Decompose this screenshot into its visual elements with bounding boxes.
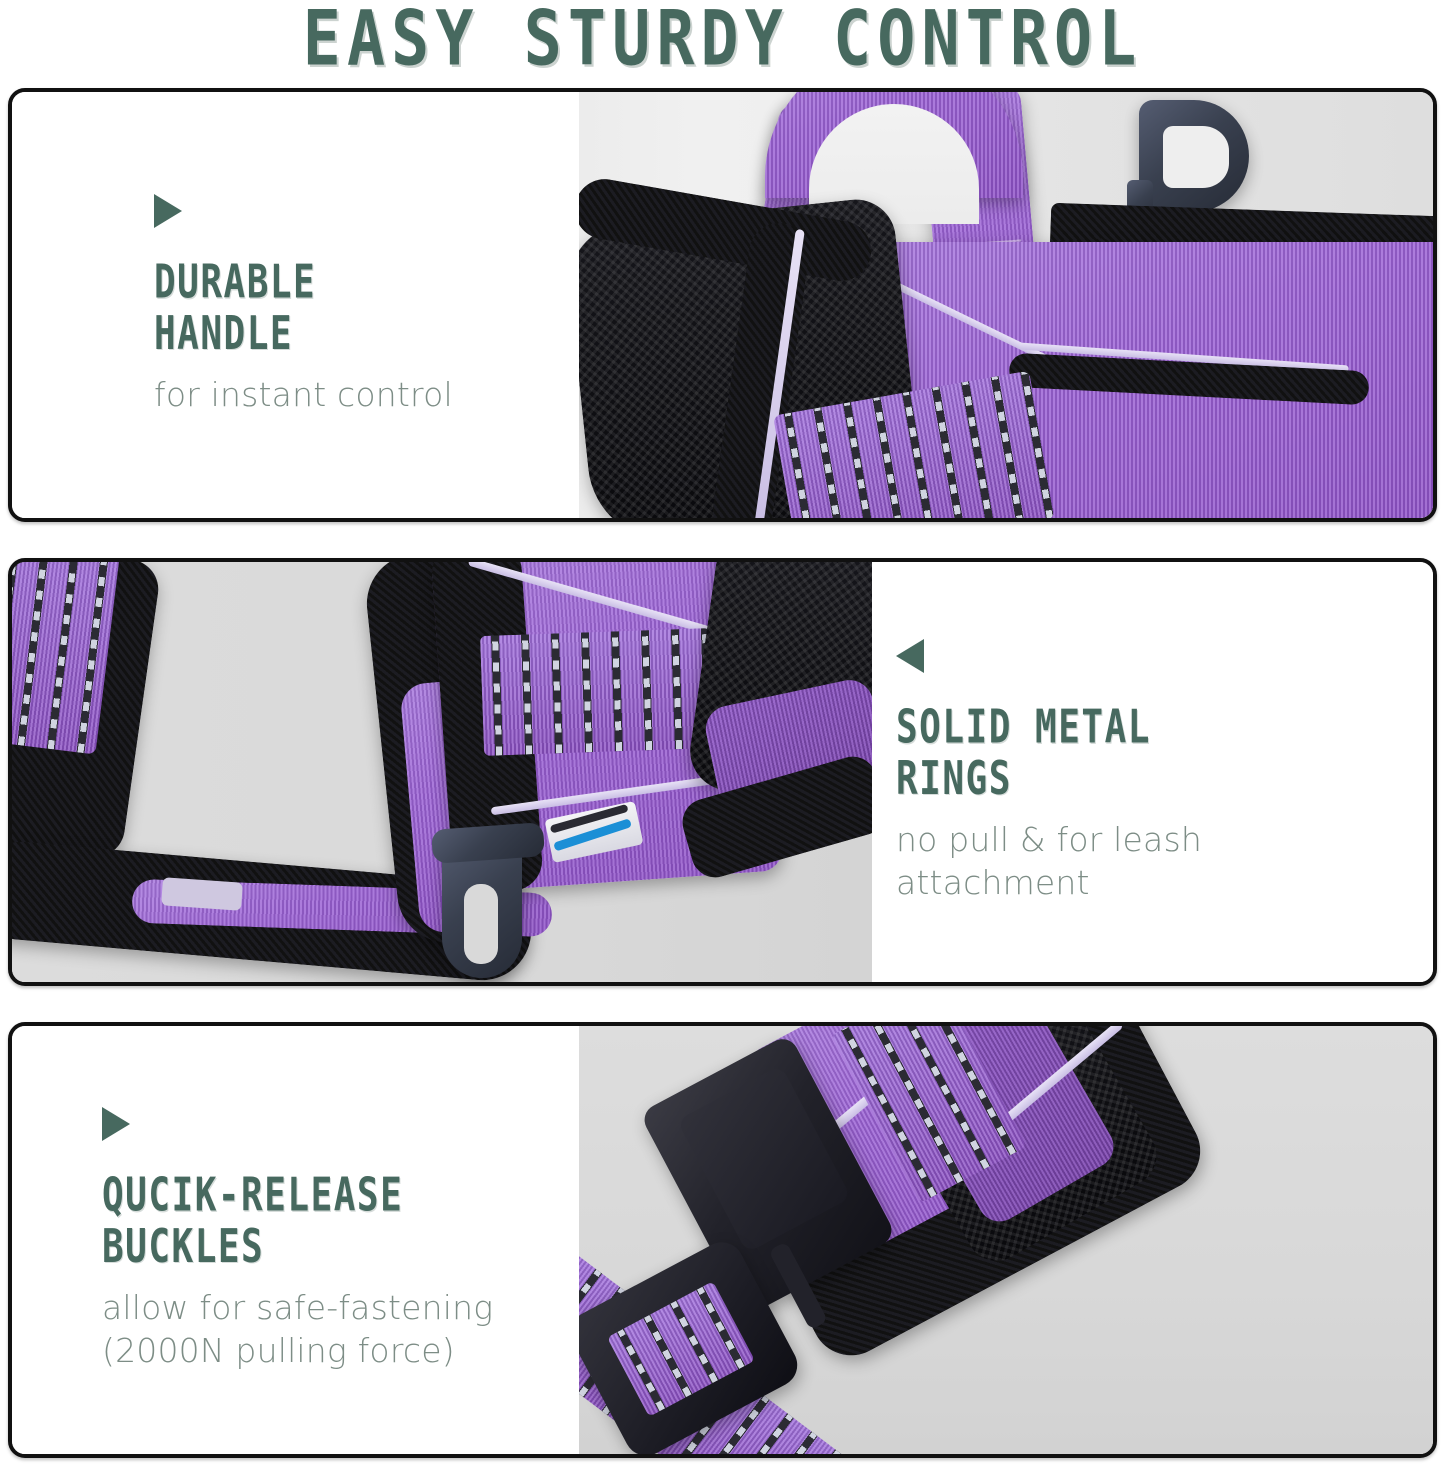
triangle-right-icon (154, 194, 182, 228)
feature-panel-durable-handle: DURABLE HANDLE for instant control (8, 88, 1437, 522)
panel-2-headline: SOLID METAL RINGS (896, 703, 1437, 806)
panel-3-headline: QUCIK-RELEASE BUCKLES (102, 1171, 579, 1274)
panel-3-text: QUCIK-RELEASE BUCKLES allow for safe-fas… (12, 1026, 579, 1454)
triangle-right-icon (102, 1107, 130, 1141)
triangle-left-icon (896, 639, 924, 673)
infographic-page: EASY STURDY CONTROL DURABLE HANDLE for i… (0, 0, 1445, 1467)
panel-1-headline: DURABLE HANDLE (154, 258, 579, 361)
feature-panel-quick-release-buckles: QUCIK-RELEASE BUCKLES allow for safe-fas… (8, 1022, 1437, 1458)
page-title: EASY STURDY CONTROL (303, 1, 1143, 77)
panel-2-text: SOLID METAL RINGS no pull & for leash at… (872, 562, 1437, 982)
panel-3-photo (579, 1026, 1433, 1454)
panel-2-subline: no pull & for leash attachment (896, 818, 1437, 905)
banner-header: EASY STURDY CONTROL (0, 0, 1445, 78)
panel-3-subline: allow for safe-fastening (2000N pulling … (102, 1286, 579, 1373)
panel-1-text: DURABLE HANDLE for instant control (12, 92, 579, 518)
feature-panel-solid-metal-rings: SOLID METAL RINGS no pull & for leash at… (8, 558, 1437, 986)
panel-1-subline: for instant control (154, 373, 579, 417)
panel-2-photo (12, 562, 872, 982)
panel-1-photo (579, 92, 1433, 518)
